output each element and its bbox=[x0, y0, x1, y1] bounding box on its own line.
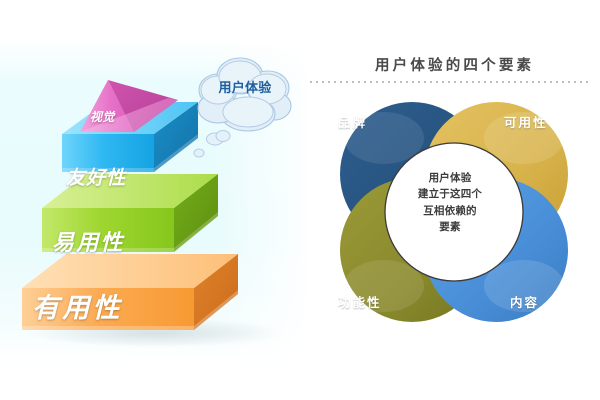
left-panel-pyramid: 视觉 友好性 易用性 有用性 bbox=[0, 0, 306, 400]
pyramid-level-usable bbox=[42, 174, 218, 252]
slide-canvas: 视觉 友好性 易用性 有用性 bbox=[0, 0, 600, 400]
thought-bubble-icon bbox=[188, 52, 298, 164]
venn-title: 用户体验的四个要素 bbox=[306, 54, 600, 75]
venn-center-circle bbox=[385, 143, 523, 281]
four-elements-venn-diagram bbox=[324, 90, 582, 330]
right-panel-venn: 用户体验的四个要素 bbox=[306, 0, 600, 400]
